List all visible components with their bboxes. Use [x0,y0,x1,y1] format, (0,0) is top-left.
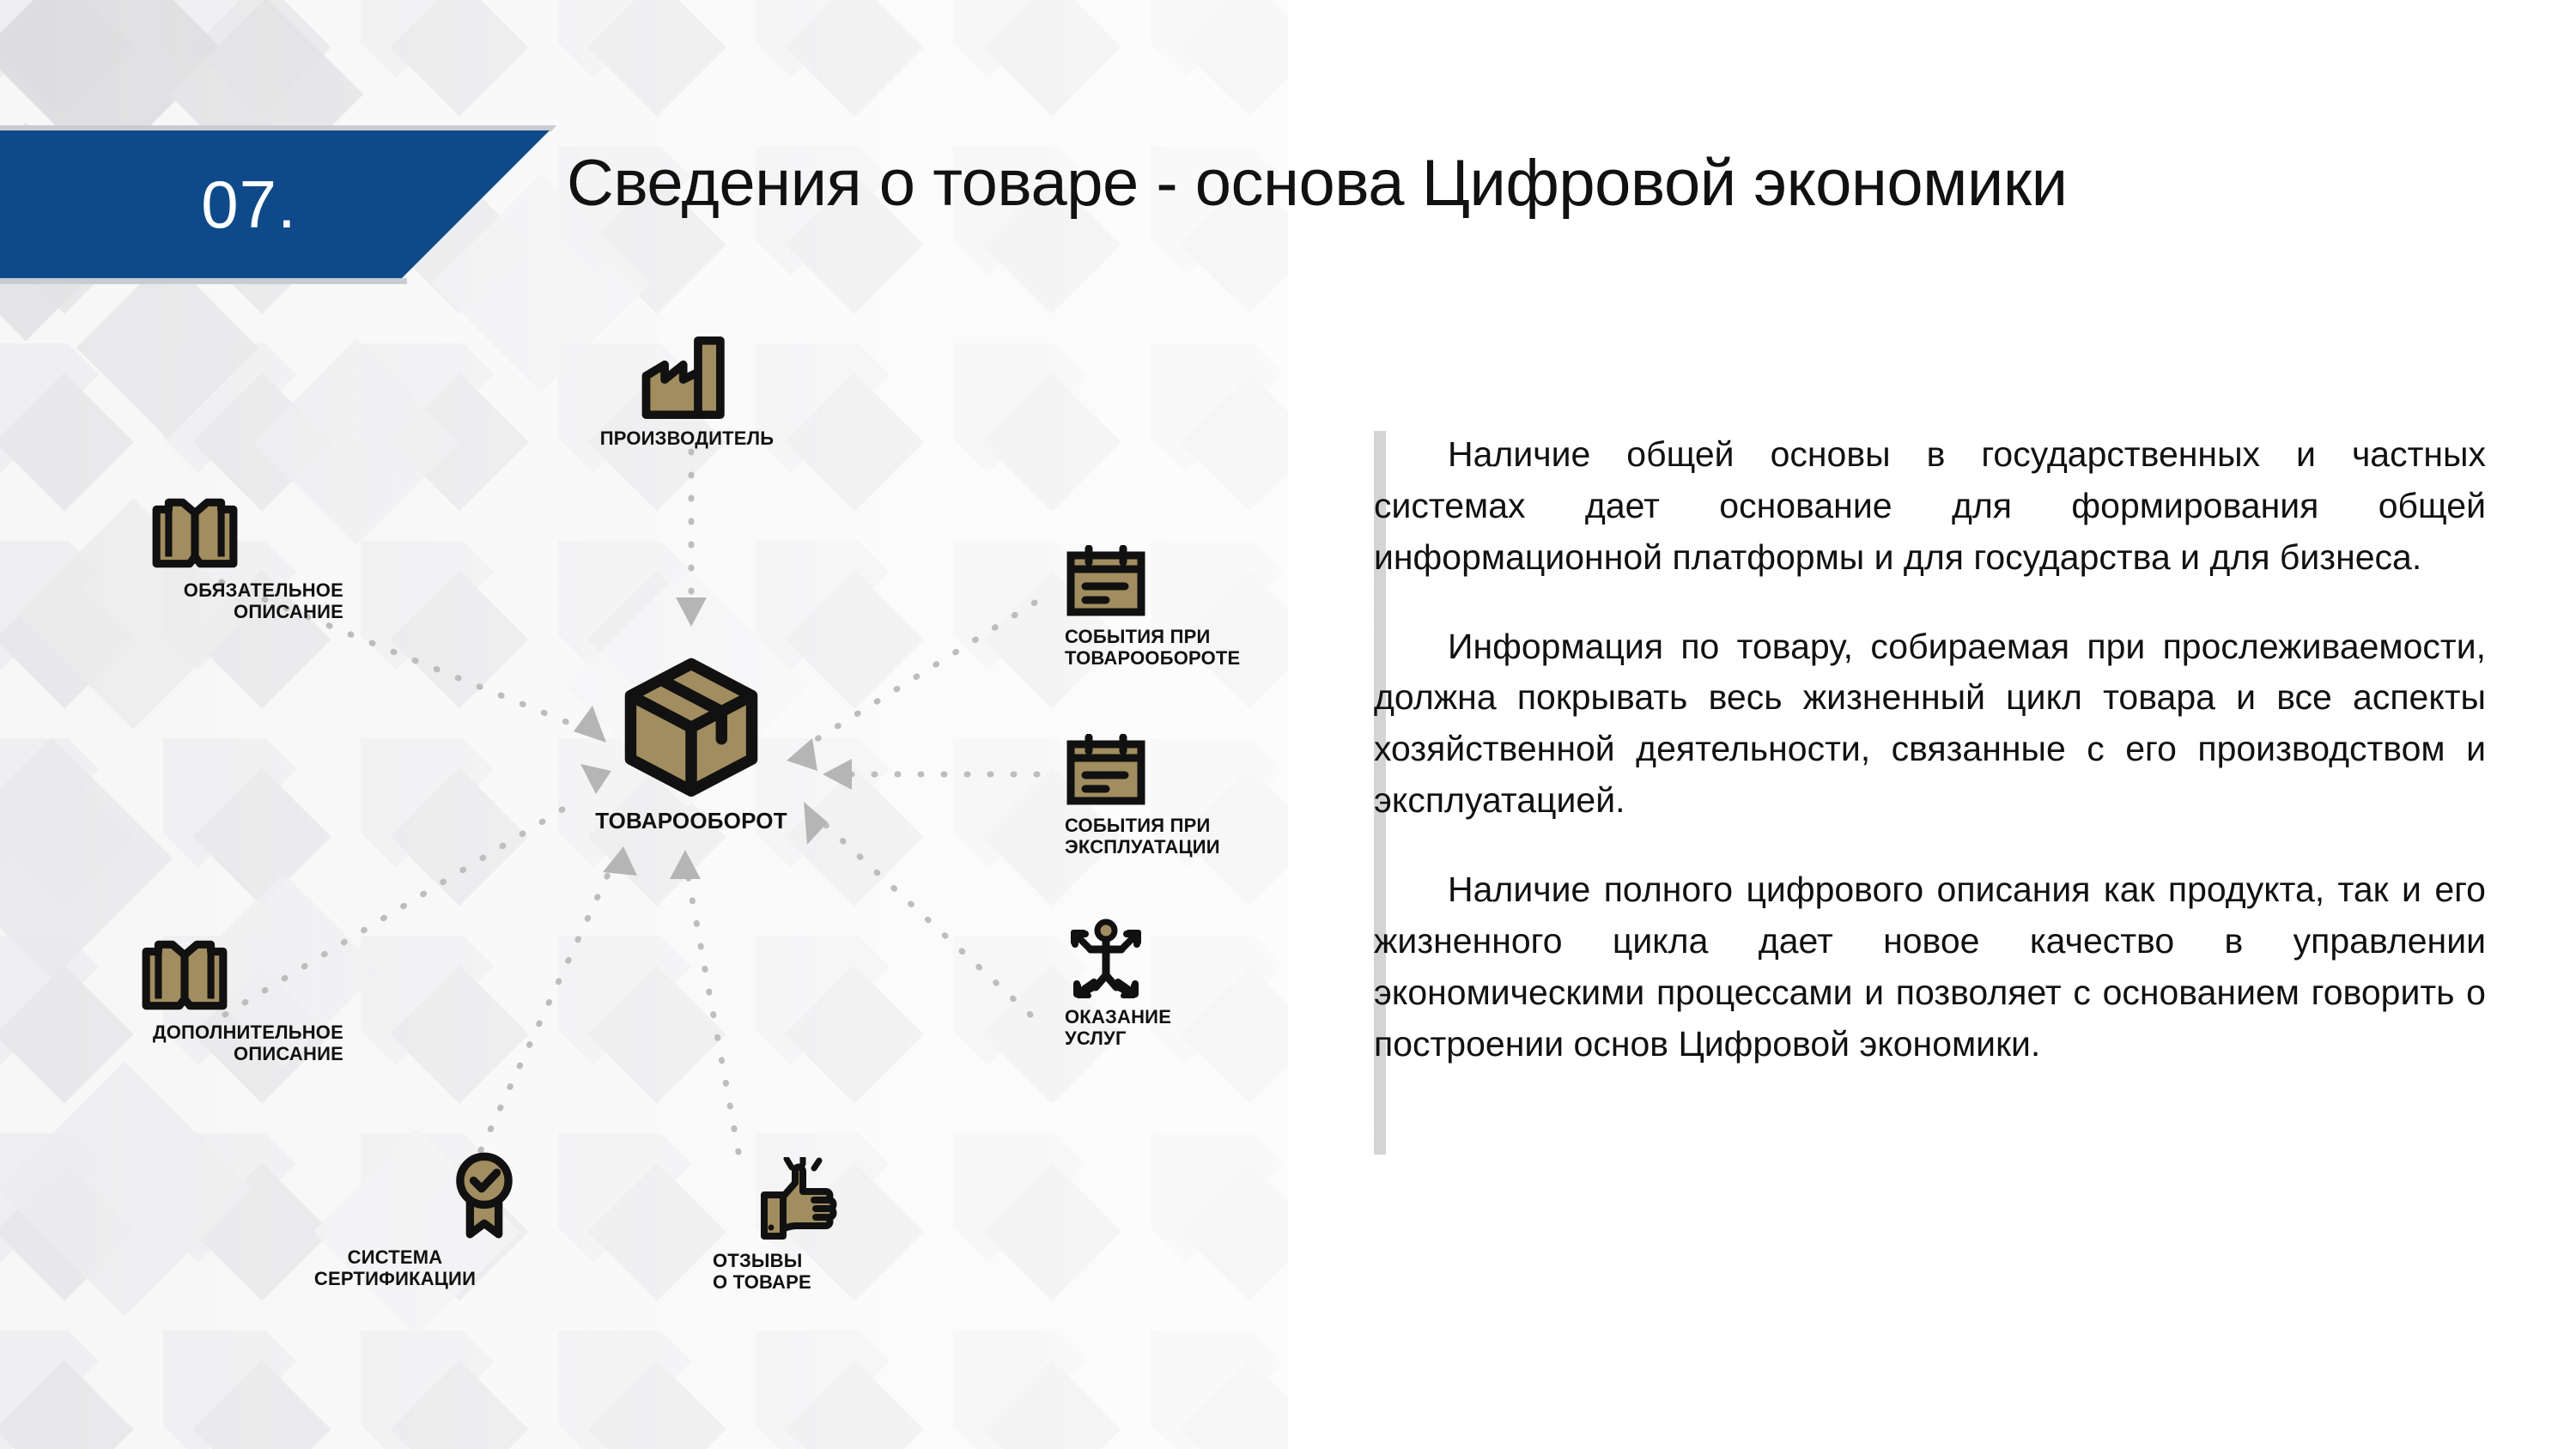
page-title: Сведения о товаре - основа Цифровой экон… [567,146,2567,221]
diagram-node-certification: СИСТЕМА СЕРТИФИКАЦИИ [240,1150,550,1289]
diagram-node-label: ОТЗЫВЫ О ТОВАРЕ [713,1250,1022,1293]
diagram-node-manufacturer: ПРОИЗВОДИТЕЛЬ [550,335,824,449]
diagram-node-label: СОБЫТИЯ ПРИ ЭКСПЛУАТАЦИИ [1065,815,1357,858]
thumbs-up-icon [757,1157,840,1243]
factory-icon [641,335,733,421]
service-person-icon [1065,919,1147,999]
paragraph-3: Наличие полного цифрового описания как п… [1374,864,2486,1070]
slide-header: 07. Сведения о товаре - основа Цифровой … [0,0,2576,283]
content-text-column: Наличие общей основы в государственных и… [1374,429,2490,1070]
connector-lines [0,283,1374,1449]
banner-top-edge [0,125,556,131]
diagram-node-reviews: ОТЗЫВЫ О ТОВАРЕ [713,1157,1022,1293]
award-medal-icon [448,1150,520,1240]
diagram-node-label: ОБЯЗАТЕЛЬНОЕ ОПИСАНИЕ [0,579,343,622]
paragraph-1: Наличие общей основы в государственных и… [1374,429,2486,584]
diagram-node-label: СИСТЕМА СЕРТИФИКАЦИИ [240,1246,550,1289]
calendar-icon [1065,545,1147,619]
diagram-node-label: ПРОИЗВОДИТЕЛЬ [550,427,824,449]
diagram-node-label: ДОПОЛНИТЕЛЬНОЕ ОПИСАНИЕ [0,1022,343,1064]
diagram-node-trade-events: СОБЫТИЯ ПРИ ТОВАРООБОРОТЕ [1065,545,1357,669]
banner-bottom-edge [0,278,407,284]
diagram-node-operation-events: СОБЫТИЯ ПРИ ЭКСПЛУАТАЦИИ [1065,734,1357,858]
diagram-node-label: ОКАЗАНИЕ УСЛУГ [1065,1006,1357,1049]
open-book-icon [149,494,240,573]
slide-number-banner: 07. [0,130,550,278]
diagram-center-label: ТОВАРООБОРОТ [545,809,837,834]
box-icon [619,652,763,797]
diagram-center-node: ТОВАРООБОРОТ [545,652,837,834]
slide-number-label: 07. [201,171,296,238]
diagram-node-additional-description: ДОПОЛНИТЕЛЬНОЕ ОПИСАНИЕ [0,936,343,1064]
diagram-node-label: СОБЫТИЯ ПРИ ТОВАРООБОРОТЕ [1065,626,1357,669]
open-book-icon [139,936,230,1015]
calendar-icon [1065,734,1147,808]
product-information-diagram: ТОВАРООБОРОТ ПРОИЗВОДИТЕЛЬ ОБЯЗАТЕЛЬНОЕ … [0,283,1374,1449]
diagram-node-mandatory-description: ОБЯЗАТЕЛЬНОЕ ОПИСАНИЕ [0,494,343,622]
diagram-node-services: ОКАЗАНИЕ УСЛУГ [1065,919,1357,1049]
paragraph-2: Информация по товару, собираемая при про… [1374,621,2486,827]
